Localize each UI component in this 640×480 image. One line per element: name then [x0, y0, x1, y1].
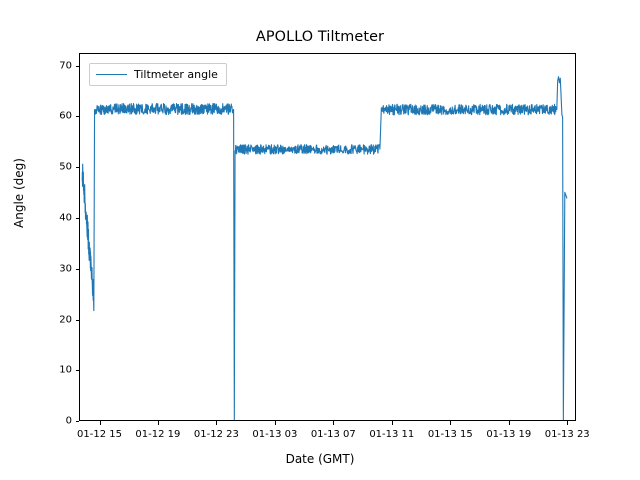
y-axis-tick-label: 20 [40, 314, 72, 325]
y-axis-label: Angle (deg) [12, 113, 26, 273]
x-axis-tick-label: 01-13 03 [252, 429, 297, 440]
x-axis-tick-label: 01-13 07 [311, 429, 356, 440]
x-axis-label: Date (GMT) [0, 452, 640, 466]
x-axis-tick-mark [158, 421, 159, 425]
x-axis-tick-label: 01-13 15 [428, 429, 473, 440]
legend: Tiltmeter angle [89, 63, 227, 86]
x-axis-tick-label: 01-13 23 [545, 429, 590, 440]
y-axis-tick-mark [76, 66, 80, 67]
y-axis-tick-mark [76, 218, 80, 219]
x-axis-tick-mark [216, 421, 217, 425]
x-axis-tick-mark [275, 421, 276, 425]
data-line-series [80, 54, 575, 420]
y-axis-tick-label: 40 [40, 213, 72, 224]
x-axis-tick-label: 01-12 15 [77, 429, 122, 440]
y-axis-tick-mark [76, 421, 80, 422]
y-axis-tick-label: 50 [40, 162, 72, 173]
x-axis-tick-mark [333, 421, 334, 425]
y-axis-tick-label: 10 [40, 365, 72, 376]
x-axis-tick-label: 01-13 11 [369, 429, 414, 440]
legend-line-sample-tiltmeter-angle [96, 74, 127, 75]
x-axis-tick-mark [450, 421, 451, 425]
x-axis-tick-label: 01-12 23 [194, 429, 239, 440]
y-axis-tick-label: 0 [40, 416, 72, 427]
x-axis-tick-mark [100, 421, 101, 425]
y-axis-tick-label: 60 [40, 111, 72, 122]
x-axis-tick-label: 01-12 19 [135, 429, 180, 440]
x-axis-tick-mark [509, 421, 510, 425]
x-axis-tick-mark [392, 421, 393, 425]
tiltmeter-angle-trace [82, 77, 567, 420]
plot-area [79, 53, 576, 421]
legend-label-tiltmeter-angle: Tiltmeter angle [134, 68, 218, 81]
x-axis-tick-label: 01-13 19 [486, 429, 531, 440]
y-axis-tick-mark [76, 320, 80, 321]
x-axis-tick-mark [567, 421, 568, 425]
y-axis-tick-label: 30 [40, 263, 72, 274]
page-title: APOLLO Tiltmeter [0, 29, 640, 45]
matplotlib-figure: APOLLO Tiltmeter Tiltmeter angle 0102030… [0, 0, 640, 480]
y-axis-tick-label: 70 [40, 60, 72, 71]
y-axis-tick-mark [76, 370, 80, 371]
y-axis-tick-mark [76, 116, 80, 117]
y-axis-tick-mark [76, 167, 80, 168]
y-axis-tick-mark [76, 269, 80, 270]
